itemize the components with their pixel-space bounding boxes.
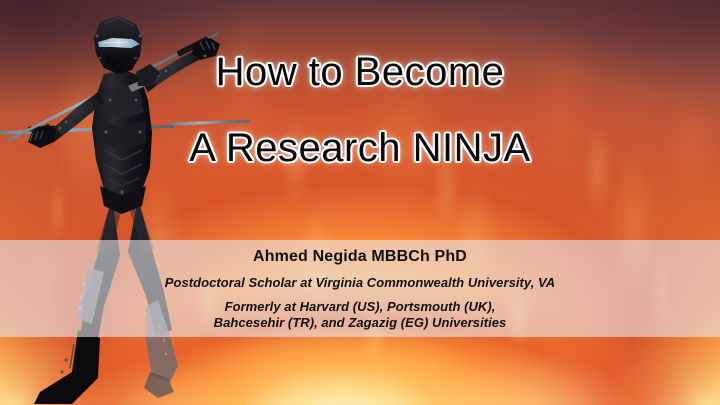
presenter-info-band: Ahmed Negida MBBCh PhD Postdoctoral Scho… [0, 240, 720, 337]
presenter-affiliation-line-2: Formerly at Harvard (US), Portsmouth (UK… [0, 299, 720, 314]
ninja-head-mask [94, 16, 142, 74]
presenter-name: Ahmed Negida MBBCh PhD [0, 248, 720, 266]
presenter-affiliation-line-3: Bahcesehir (TR), and Zagazig (EG) Univer… [0, 315, 720, 330]
ninja-right-arm [136, 38, 220, 92]
ninja-figure [0, 0, 250, 405]
title-slide: How to Become A Research NINJA Ahmed Neg… [0, 0, 720, 405]
ninja-torso [92, 70, 152, 214]
presenter-info: Ahmed Negida MBBCh PhD Postdoctoral Scho… [0, 240, 720, 330]
presenter-affiliation-line-1: Postdoctoral Scholar at Virginia Commonw… [0, 275, 720, 290]
ninja-left-arm [28, 92, 104, 148]
